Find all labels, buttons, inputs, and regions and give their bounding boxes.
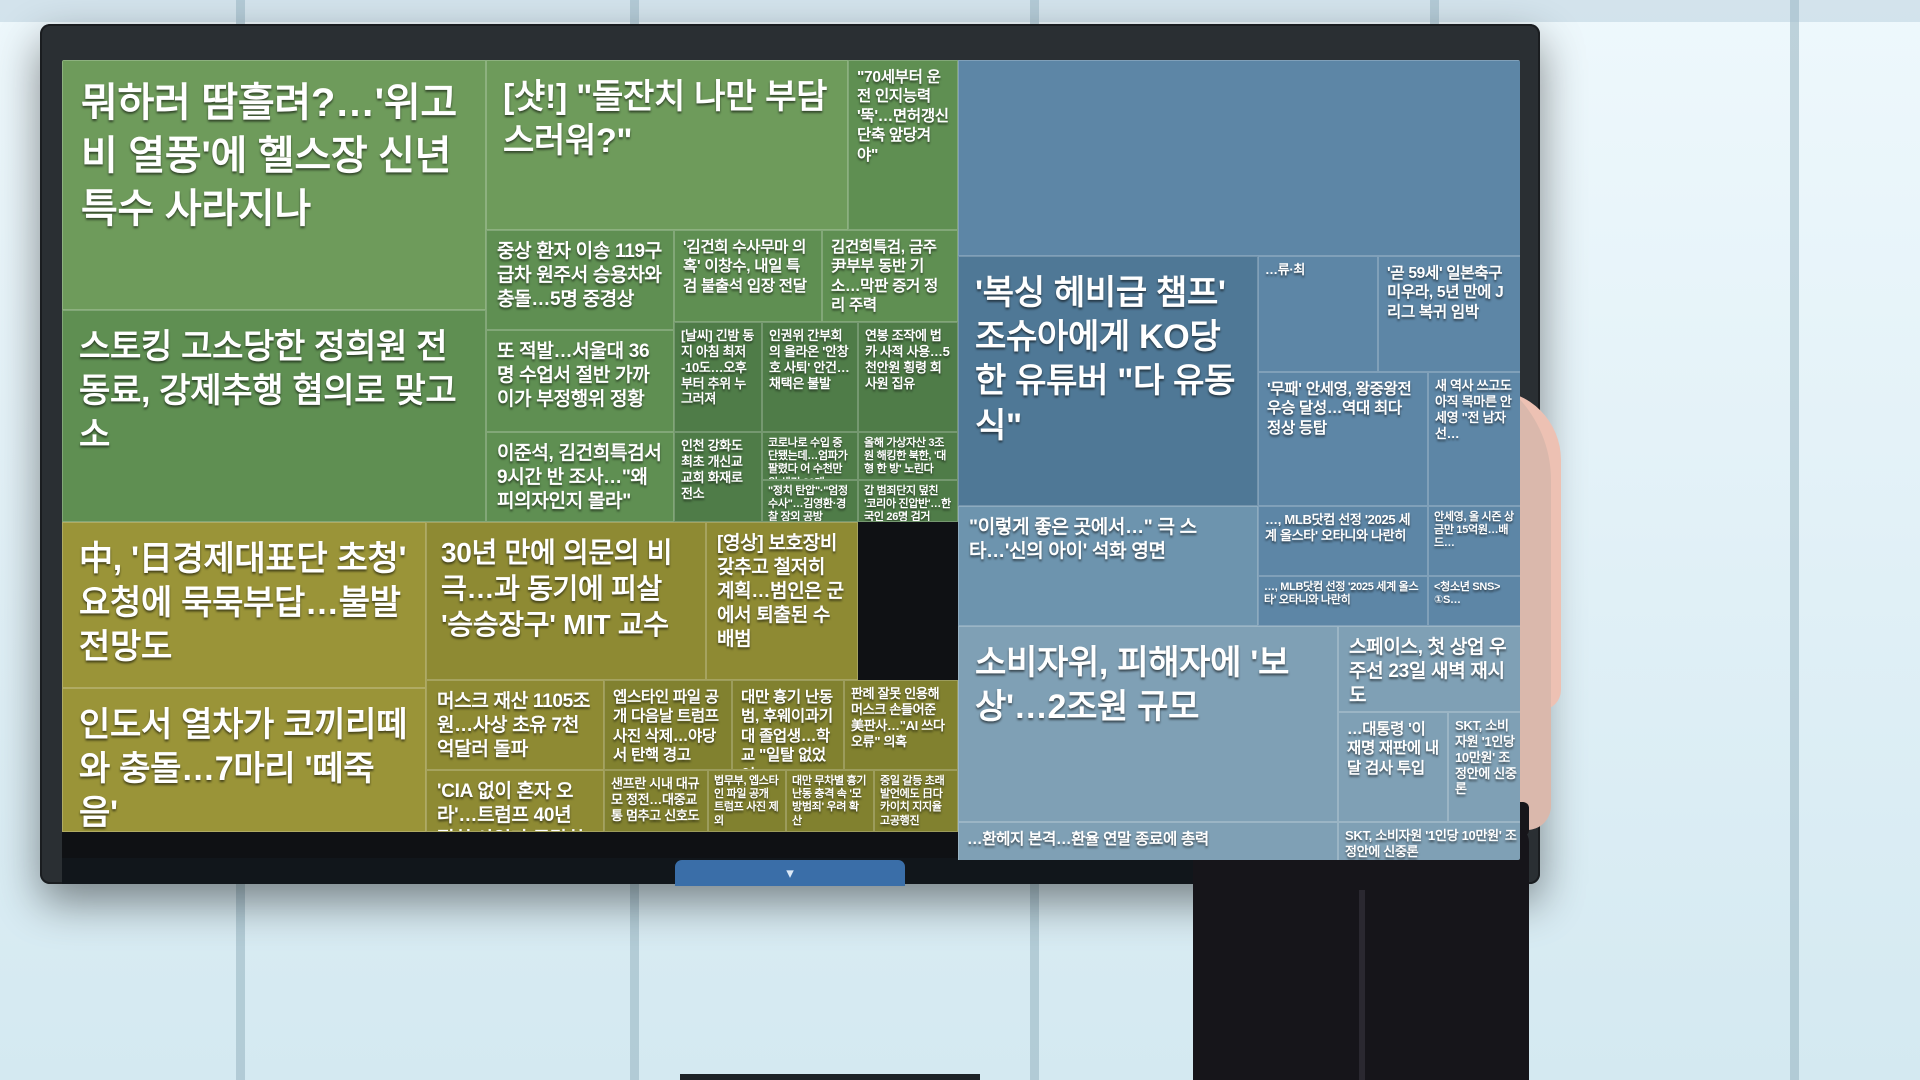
tile-title: 中, '日경제대표단 초청' 요청에 묵묵부답…불발 전망도	[63, 523, 425, 684]
treemap-tile-blue-1[interactable]: '곧 59세' 일본축구 미우라, 5년 만에 J리그 복귀 임박	[1378, 256, 1520, 372]
tile-title: 뭐하러 땀흘려?…'위고비 열풍'에 헬스장 신년특수 사라지나	[63, 61, 485, 251]
tile-title: …류·최	[1259, 257, 1377, 283]
treemap-tile-olive-headline-2[interactable]: 인도서 열차가 코끼리떼와 충돌…7마리 '떼죽음'	[62, 688, 426, 832]
tile-title: 대만 흉기 난동범, 후웨이과기대 졸업생…학교 "일탈 없었어"	[733, 681, 843, 770]
treemap-tile-blue-headline-2[interactable]: 소비자위, 피해자에 '보상'…2조원 규모	[958, 626, 1338, 822]
tile-title: 새 역사 쓰고도 아직 목마른 안세영 "전 남자 선…	[1429, 373, 1520, 446]
tile-title: '무패' 안세영, 왕중왕전 우승 달성…역대 최다 정상 등탑	[1259, 373, 1427, 445]
treemap-tile-green-7[interactable]: 인권위 간부회의 올라온 '안창호 사퇴' 안건…채택은 불발	[762, 322, 858, 432]
tile-title: 30년 만에 의문의 비극…과 동기에 피살 '승승장구' MIT 교수	[427, 523, 705, 654]
treemap-tile-green-8[interactable]: 연봉 조작에 법카 사적 사용…5천안원 횡령 회사원 집유	[858, 322, 958, 432]
tile-title: 스페이스, 첫 상업 우주선 23일 새벽 재시도	[1339, 627, 1520, 712]
tile-title: 또 적발…서울대 36명 수업서 절반 가까이가 부정행위 정황	[487, 331, 673, 421]
screen-bezel: 뭐하러 땀흘려?…'위고비 열풍'에 헬스장 신년특수 사라지나 스토킹 고소당…	[62, 60, 1520, 860]
tile-title: "정치 탄압"·"엄정 수사"…김영환·경찰 장외 공방	[763, 481, 857, 522]
tile-title: 판례 잘못 인용해 머스크 손들어준 美판사…"AI 쓰다 오류" 의혹	[845, 681, 957, 754]
treemap-tile-green-6[interactable]: [날씨] 긴밤 동지 아침 최저 -10도…오후부터 추위 누그러져	[674, 322, 762, 432]
treemap-tile-green-11[interactable]: 올해 가상자산 3조원 해킹한 북한, '대형 한 방' 노린다	[858, 432, 958, 480]
treemap-tile-blue-5[interactable]: <청소년 SNS> ①S…	[1428, 576, 1520, 626]
tile-title: 엡스타인 파일 공개 다음날 트럼프 사진 삭제…야당서 탄핵 경고	[605, 681, 731, 770]
tile-title: 중일 갈등 초래 발언에도 日다카이치 지지율 고공행진	[875, 771, 957, 832]
treemap-tile-olive-2[interactable]: 엡스타인 파일 공개 다음날 트럼프 사진 삭제…야당서 탄핵 경고	[604, 680, 732, 770]
tile-title: 갑 범죄단지 덮친 '코리아 진압반'…한국인 26명 검거	[859, 481, 957, 522]
treemap-tile-green-5[interactable]: 김건희특검, 금주 尹부부 동반 기소…막판 증거 정리 주력	[822, 230, 958, 322]
treemap-tile-blue-12[interactable]: …환헤지 본격…환율 연말 종료에 총력	[958, 822, 1338, 860]
news-treemap[interactable]: 뭐하러 땀흘려?…'위고비 열풍'에 헬스장 신년특수 사라지나 스토킹 고소당…	[62, 60, 1520, 860]
tile-title: '곧 59세' 일본축구 미우라, 5년 만에 J리그 복귀 임박	[1379, 257, 1520, 329]
treemap-tile-blue-8[interactable]: 스페이스, 첫 상업 우주선 23일 새벽 재시도	[1338, 626, 1520, 712]
treemap-tile-olive-6[interactable]: 샌프란 시내 대규모 정전…대중교통 멈추고 신호도	[604, 770, 708, 832]
tile-title: '김건희 수사무마 의혹' 이창수, 내일 특검 불출석 입장 전달	[675, 231, 821, 303]
treemap-tile-green-headline-2[interactable]: 스토킹 고소당한 정희원 전 동료, 강제추행 혐의로 맞고소	[62, 310, 486, 522]
studio-scene: 뭐하러 땀흘려?…'위고비 열풍'에 헬스장 신년특수 사라지나 스토킹 고소당…	[0, 0, 1920, 1080]
tile-title: 샌프란 시내 대규모 정전…대중교통 멈추고 신호도	[605, 771, 707, 829]
treemap-tile-blue-10[interactable]: SKT, 소비자원 '1인당 10만원' 조정안에 신중론	[1448, 712, 1520, 822]
tile-title: …환헤지 본격…환율 연말 종료에 총력	[959, 823, 1337, 856]
tile-title: [영상] 보호장비 갖추고 철저히 계획…범인은 군에서 퇴출된 수배범	[707, 523, 857, 661]
tile-title: 이준석, 김건희특검서 9시간 반 조사…"왜 피의자인지 몰라"	[487, 433, 673, 522]
tile-title: 'CIA 없이 혼자 오라'…트럼프 40년 절친 사업가 공략한 푸틴	[427, 771, 603, 832]
treemap-tile-olive-5[interactable]: 'CIA 없이 혼자 오라'…트럼프 40년 절친 사업가 공략한 푸틴	[426, 770, 604, 832]
tile-title: SKT, 소비자원 '1인당 10만원' 조정안에 신중론	[1339, 823, 1520, 860]
tile-title: 대만 무차별 흉기 난동 충격 속 '모방범죄' 우려 확산	[787, 771, 873, 832]
tile-title: 법무부, 엡스타인 파일 공개 트럼프 사진 제외	[709, 771, 785, 832]
treemap-tile-blue-6[interactable]: "이렇게 좋은 곳에서…" 극 스타…'신의 아이' 석화 영면	[958, 506, 1258, 626]
tile-title: 올해 가상자산 3조원 해킹한 북한, '대형 한 방' 노린다	[859, 433, 957, 480]
display-stand	[680, 1074, 980, 1080]
treemap-tile-green-2[interactable]: 또 적발…서울대 36명 수업서 절반 가까이가 부정행위 정황	[486, 330, 674, 432]
tile-title: …, MLB닷컴 선정 '2025 세계 올스타' 오타니와 나란히	[1259, 577, 1427, 611]
treemap-tile-green-9[interactable]: 인천 강화도 최초 개신교 교회 화재로 전소	[674, 432, 762, 522]
tile-title: 중상 환자 이송 119구급차 원주서 승용차와 충돌…5명 중경상	[487, 231, 673, 321]
treemap-tile-green-4[interactable]: '김건희 수사무마 의혹' 이창수, 내일 특검 불출석 입장 전달	[674, 230, 822, 322]
tile-title: 인권위 간부회의 올라온 '안창호 사퇴' 안건…채택은 불발	[763, 323, 857, 396]
tile-title: …대통령 '이재명 재판에 내달 검사 투입	[1339, 713, 1447, 785]
treemap-tile-olive-9[interactable]: 중일 갈등 초래 발언에도 日다카이치 지지율 고공행진	[874, 770, 958, 832]
tile-title: 안세영, 올 시즌 상금만 15억원…배드…	[1429, 507, 1520, 555]
treemap-tile-blue-4[interactable]: 안세영, 올 시즌 상금만 15억원…배드…	[1428, 506, 1520, 576]
treemap-tile-green-10[interactable]: 코로나로 수입 중단됐는데…엄파가 팔렸다 어 수천만원 생긴 30대	[762, 432, 858, 480]
treemap-tile-green-12[interactable]: "정치 탄압"·"엄정 수사"…김영환·경찰 장외 공방	[762, 480, 858, 522]
treemap-tile-green-right-headline[interactable]: "70세부터 운전 인지능력 '뚝'…면허갱신 단축 앞당겨야"	[848, 60, 958, 230]
tile-title: 인천 강화도 최초 개신교 교회 화재로 전소	[675, 433, 761, 506]
treemap-tile-green-3[interactable]: 이준석, 김건희특검서 9시간 반 조사…"왜 피의자인지 몰라"	[486, 432, 674, 522]
treemap-tile-blue-2[interactable]: '무패' 안세영, 왕중왕전 우승 달성…역대 최다 정상 등탑	[1258, 372, 1428, 506]
tile-title: 소비자위, 피해자에 '보상'…2조원 규모	[959, 627, 1337, 743]
treemap-tile-green-13[interactable]: 갑 범죄단지 덮친 '코리아 진압반'…한국인 26명 검거	[858, 480, 958, 522]
treemap-tile-olive-7[interactable]: 법무부, 엡스타인 파일 공개 트럼프 사진 제외	[708, 770, 786, 832]
treemap-tile-olive-4[interactable]: 판례 잘못 인용해 머스크 손들어준 美판사…"AI 쓰다 오류" 의혹	[844, 680, 958, 770]
treemap-tile-blue-11[interactable]: …류·최	[1258, 256, 1378, 372]
treemap-tile-olive-3[interactable]: 대만 흉기 난동범, 후웨이과기대 졸업생…학교 "일탈 없었어"	[732, 680, 844, 770]
wall-mullion	[1790, 0, 1799, 1080]
treemap-tile-blue-7[interactable]: …, MLB닷컴 선정 '2025 세계 올스타' 오타니와 나란히	[1258, 506, 1428, 576]
studio-video-wall: 뭐하러 땀흘려?…'위고비 열풍'에 헬스장 신년특수 사라지나 스토킹 고소당…	[40, 24, 1540, 884]
tile-title: 코로나로 수입 중단됐는데…엄파가 팔렸다 어 수천만원 생긴 30대	[763, 433, 857, 480]
treemap-tile-blue-8b[interactable]: …, MLB닷컴 선정 '2025 세계 올스타' 오타니와 나란히	[1258, 576, 1428, 626]
tile-title: "70세부터 운전 인지능력 '뚝'…면허갱신 단축 앞당겨야"	[849, 61, 957, 172]
tile-title: 머스크 재산 1105조원…사상 초유 7천억달러 돌파	[427, 681, 603, 770]
treemap-tile-olive-1[interactable]: 머스크 재산 1105조원…사상 초유 7천억달러 돌파	[426, 680, 604, 770]
tile-title: 인도서 열차가 코끼리떼와 충돌…7마리 '떼죽음'	[63, 689, 425, 832]
tile-title: '복싱 헤비급 챔프' 조슈아에게 KO당한 유튜버 "다 유동식"	[959, 257, 1257, 462]
treemap-tile-green-center-headline[interactable]: [샷!] "돌잔치 나만 부담스러워?"	[486, 60, 848, 230]
treemap-tile-green-headline-1[interactable]: 뭐하러 땀흘려?…'위고비 열풍'에 헬스장 신년특수 사라지나	[62, 60, 486, 310]
treemap-tile-olive-8[interactable]: 대만 무차별 흉기 난동 충격 속 '모방범죄' 우려 확산	[786, 770, 874, 832]
treemap-tile-blue-13[interactable]: SKT, 소비자원 '1인당 10만원' 조정안에 신중론	[1338, 822, 1520, 860]
treemap-tile-blue-headline-1[interactable]: '복싱 헤비급 챔프' 조슈아에게 KO당한 유튜버 "다 유동식"	[958, 256, 1258, 506]
tile-title: "이렇게 좋은 곳에서…" 극 스타…'신의 아이' 석화 영면	[959, 507, 1257, 573]
tile-title: 스토킹 고소당한 정희원 전 동료, 강제추행 혐의로 맞고소	[63, 311, 485, 472]
wall-band	[0, 0, 1920, 22]
trouser-seam	[1359, 890, 1365, 1080]
chevron-down-icon: ▾	[786, 864, 794, 882]
treemap-tile-green-1[interactable]: 중상 환자 이송 119구급차 원주서 승용차와 충돌…5명 중경상	[486, 230, 674, 330]
treemap-tile-olive-center-headline[interactable]: 30년 만에 의문의 비극…과 동기에 피살 '승승장구' MIT 교수	[426, 522, 706, 680]
treemap-tile-blue-spacer[interactable]	[958, 60, 1520, 256]
tile-title: <청소년 SNS> ①S…	[1429, 577, 1520, 611]
scroll-down-control[interactable]: ▾	[675, 860, 905, 886]
tile-title: 김건희특검, 금주 尹부부 동반 기소…막판 증거 정리 주력	[823, 231, 957, 322]
treemap-tile-blue-9[interactable]: …대통령 '이재명 재판에 내달 검사 투입	[1338, 712, 1448, 822]
tile-title: [날씨] 긴밤 동지 아침 최저 -10도…오후부터 추위 누그러져	[675, 323, 761, 412]
tile-title: …, MLB닷컴 선정 '2025 세계 올스타' 오타니와 나란히	[1259, 507, 1427, 549]
treemap-tile-olive-right-headline[interactable]: [영상] 보호장비 갖추고 철저히 계획…범인은 군에서 퇴출된 수배범	[706, 522, 858, 680]
tile-title: SKT, 소비자원 '1인당 10만원' 조정안에 신중론	[1449, 713, 1520, 802]
tile-title: 연봉 조작에 법카 사적 사용…5천안원 횡령 회사원 집유	[859, 323, 957, 396]
treemap-tile-olive-headline-1[interactable]: 中, '日경제대표단 초청' 요청에 묵묵부답…불발 전망도	[62, 522, 426, 688]
treemap-tile-blue-3[interactable]: 새 역사 쓰고도 아직 목마른 안세영 "전 남자 선…	[1428, 372, 1520, 506]
tile-title: [샷!] "돌잔치 나만 부담스러워?"	[487, 61, 847, 177]
